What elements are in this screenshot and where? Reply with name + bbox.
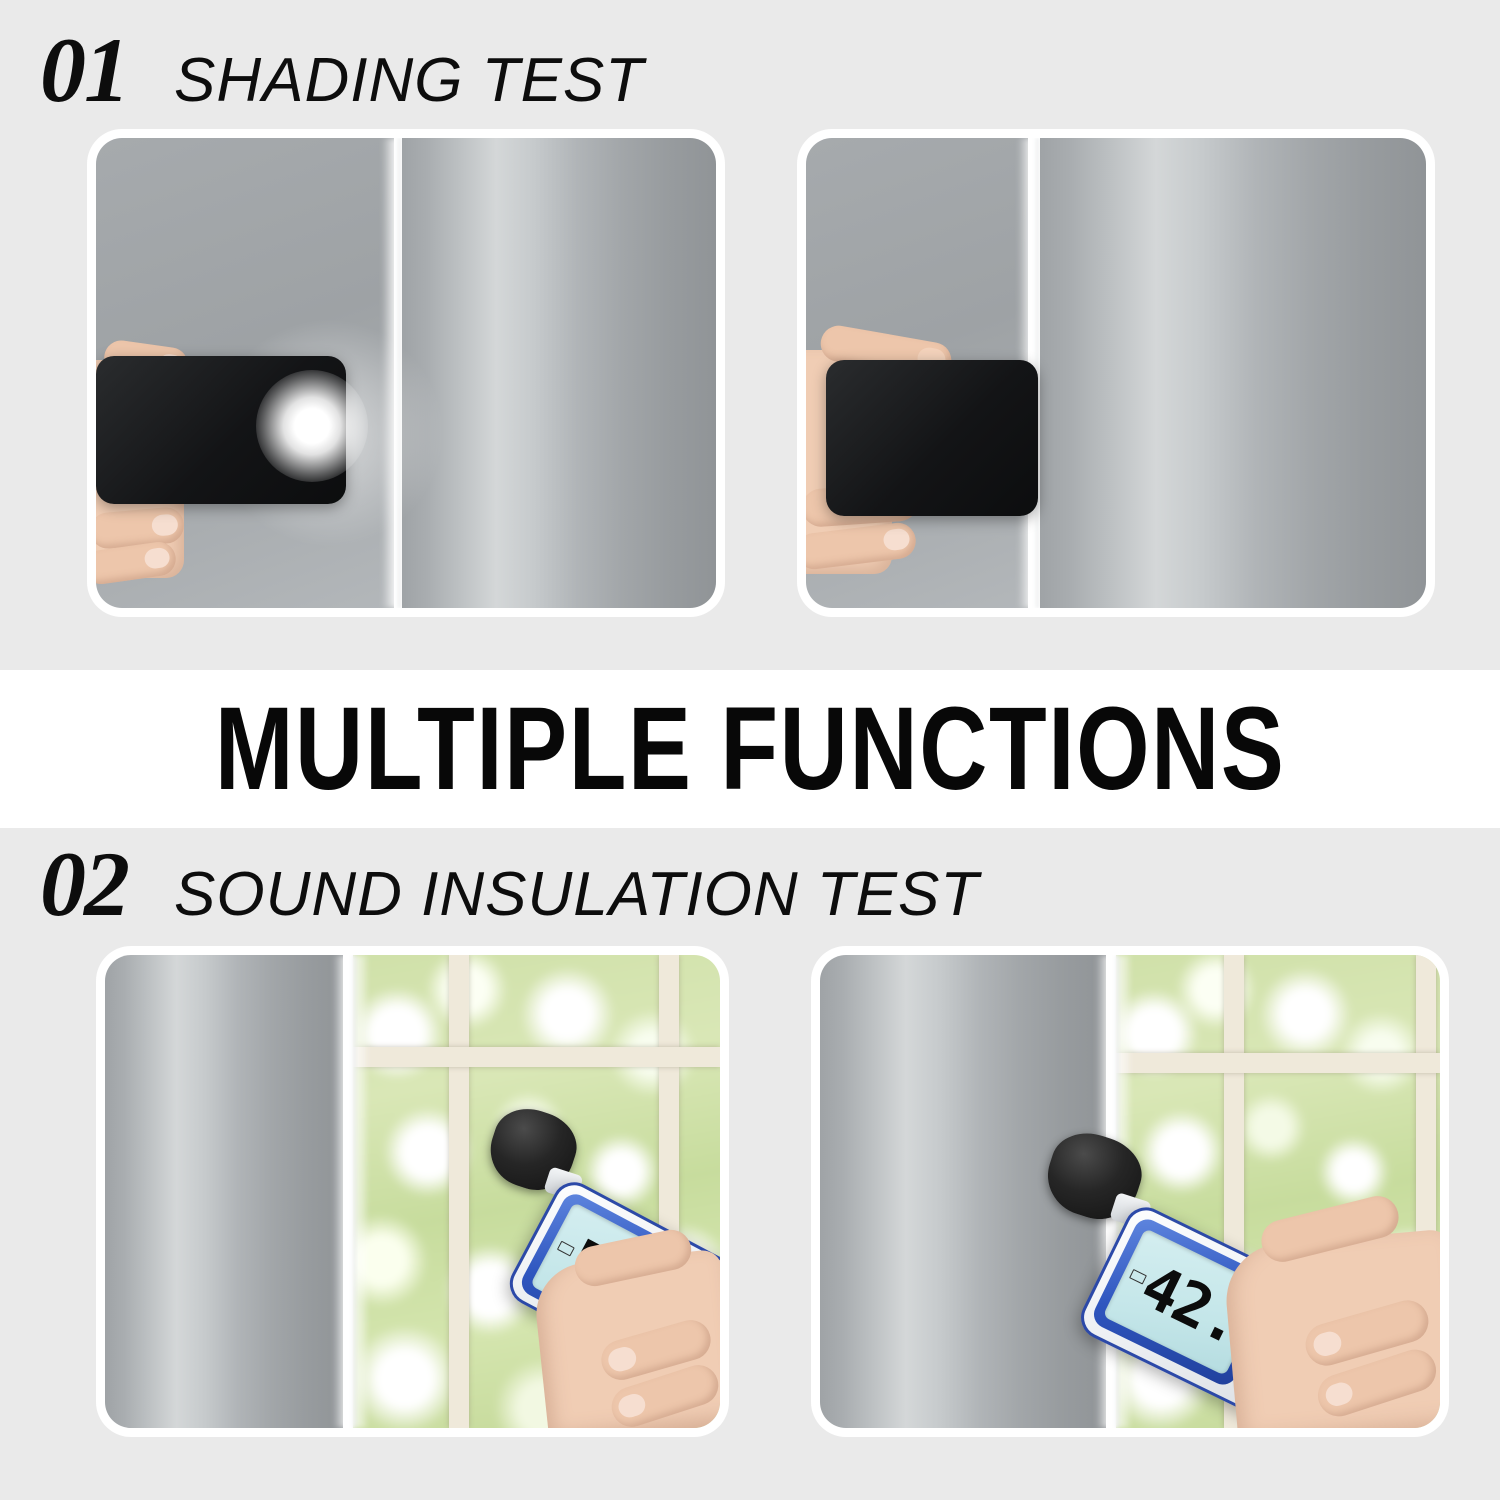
- photo-card-sound-window: 52.9 dBA HOLD ⏻ MAX/MIN: [105, 955, 720, 1428]
- curtain-fabric: [1040, 138, 1426, 608]
- photo-card-shading-light-on: [96, 138, 716, 608]
- window-mullion-horizontal: [353, 1047, 720, 1067]
- banner-headline: MULTIPLE FUNCTIONS: [215, 690, 1286, 808]
- curtain-fabric: [105, 955, 343, 1428]
- fingernail: [882, 528, 910, 552]
- section-title-01: SHADING TEST: [174, 50, 644, 112]
- photo-sound-at-curtain: 42.3 dBA HOLD ⏻ MAX/MIN BENETECH GM1352 …: [820, 955, 1440, 1428]
- photo-sound-at-window: 52.9 dBA HOLD ⏻ MAX/MIN: [105, 955, 720, 1428]
- fingernail: [1323, 1380, 1355, 1409]
- fingernail: [143, 547, 171, 570]
- photo-shading-light-on: [96, 138, 716, 608]
- photo-shading-light-blocked: [806, 138, 1426, 608]
- fingernail: [151, 513, 179, 536]
- curtain-seam: [351, 955, 356, 1428]
- battery-icon: [1129, 1269, 1147, 1285]
- section-number-02: 02: [40, 838, 128, 930]
- flashlight-beam: [256, 370, 368, 482]
- section-heading-02: 02 SOUND INSULATION TEST: [40, 838, 979, 930]
- window-mullion-horizontal: [1116, 1053, 1440, 1073]
- photo-card-sound-curtain: 42.3 dBA HOLD ⏻ MAX/MIN BENETECH GM1352 …: [820, 955, 1440, 1428]
- section-title-02: SOUND INSULATION TEST: [174, 864, 979, 926]
- infographic-page: 01 SHADING TEST: [0, 0, 1500, 1500]
- curtain-fabric: [402, 138, 716, 608]
- curtain-highlight-edge: [333, 955, 367, 1428]
- banner-multiple-functions: MULTIPLE FUNCTIONS: [0, 670, 1500, 828]
- section-number-01: 01: [40, 24, 128, 116]
- photo-card-shading-light-blocked: [806, 138, 1426, 608]
- section-heading-01: 01 SHADING TEST: [40, 24, 644, 116]
- fingernail: [616, 1391, 648, 1420]
- fingernail: [606, 1344, 639, 1374]
- fingernail: [1311, 1329, 1344, 1359]
- smartphone: [826, 360, 1038, 516]
